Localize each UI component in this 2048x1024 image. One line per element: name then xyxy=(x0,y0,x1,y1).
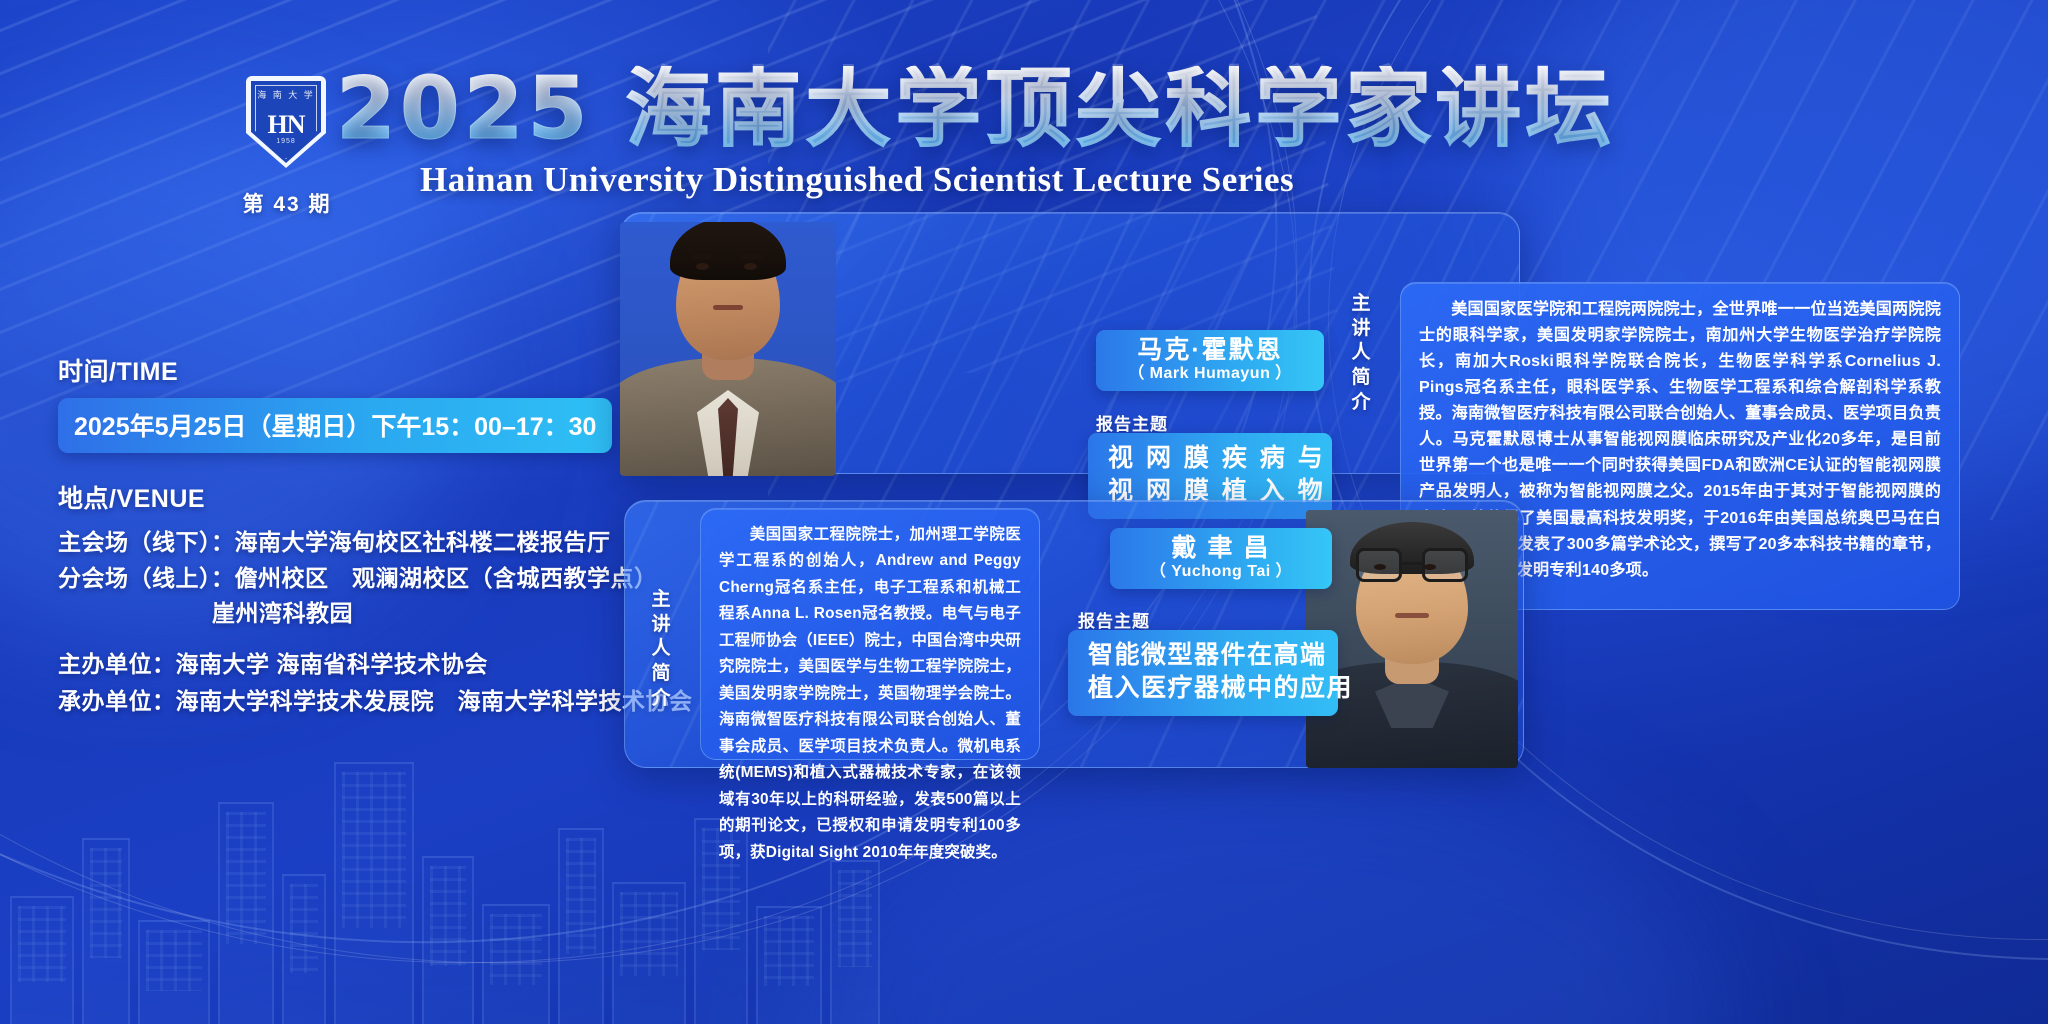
speaker-1-portrait xyxy=(620,222,836,476)
issue-number: 第 43 期 xyxy=(232,188,342,218)
speaker-1-bio-label-char-4: 介 xyxy=(1348,391,1374,416)
speaker-2-name-cn: 戴 聿 昌 xyxy=(1136,534,1306,562)
page-title: 2025 海南大学顶尖科学家讲坛 xyxy=(336,66,1615,152)
crest-initials: HN xyxy=(246,110,326,140)
organizer-line: 主办单位：海南大学 海南省科学技术协会 xyxy=(58,646,638,683)
venue-label: 地点/VENUE xyxy=(58,479,638,515)
speaker-1-topic-line1: 视 网 膜 疾 病 与 xyxy=(1108,442,1312,475)
speaker-2-bio-box: 美国国家工程院院士，加州理工学院医学工程系的创始人，Andrew and Peg… xyxy=(700,508,1040,760)
speaker-2-bio-label-char-2: 人 xyxy=(648,637,674,662)
speaker-2-bio-label-char-3: 简 xyxy=(648,662,674,687)
event-info-panel: 时间/TIME 2025年5月25日（星期日）下午15：00–17：30 地点/… xyxy=(58,352,638,720)
speaker-2-bio-text: 美国国家工程院院士，加州理工学院医学工程系的创始人，Andrew and Peg… xyxy=(719,522,1021,866)
poster-header: 海 南 大 学 HN 1958 第 43 期 2025 海南大学顶尖科学家讲坛 … xyxy=(0,56,2048,226)
speaker-2-bio-label-char-1: 讲 xyxy=(648,613,674,638)
hainan-university-crest-icon: 海 南 大 学 HN 1958 xyxy=(246,76,326,168)
speaker-1-bio-label-char-3: 简 xyxy=(1348,366,1374,391)
speaker-2-bio-label: 主 讲 人 简 介 xyxy=(648,588,674,711)
time-value: 2025年5月25日（星期日）下午15：00–17：30 xyxy=(58,398,612,453)
speaker-1-name-en: （ Mark Humayun ） xyxy=(1122,364,1298,383)
speaker-2-topic-label: 报告主题 xyxy=(1078,607,1150,632)
speaker-2-bio-label-char-4: 介 xyxy=(648,687,674,712)
speaker-2-topic: 智能微型器件在高端 植入医疗器械中的应用 xyxy=(1068,630,1338,716)
speaker-1-bio-label: 主 讲 人 简 介 xyxy=(1348,292,1374,415)
speaker-2-topic-line1: 智能微型器件在高端 xyxy=(1088,639,1318,672)
speaker-1-bio-label-char-0: 主 xyxy=(1348,292,1374,317)
page-subtitle: Hainan University Distinguished Scientis… xyxy=(420,160,1294,200)
speaker-1-bio-label-char-1: 讲 xyxy=(1348,317,1374,342)
speaker-1-name-badge: 马克·霍默恩 （ Mark Humayun ） xyxy=(1096,330,1324,391)
crest-top-text: 海 南 大 学 xyxy=(246,88,326,101)
speaker-2-bio-label-char-0: 主 xyxy=(648,588,674,613)
speaker-2-name-en: （ Yuchong Tai ） xyxy=(1136,562,1306,581)
speaker-1-bio-label-char-2: 人 xyxy=(1348,341,1374,366)
crest-year: 1958 xyxy=(246,138,326,145)
poster-root: 海 南 大 学 HN 1958 第 43 期 2025 海南大学顶尖科学家讲坛 … xyxy=(0,0,2048,1024)
venue-line-branch: 分会场（线上）：儋州校区 观澜湖校区（含城西教学点） xyxy=(58,561,638,597)
venue-line-main: 主会场（线下）：海南大学海甸校区社科楼二楼报告厅 xyxy=(58,525,638,561)
speaker-1-topic-label: 报告主题 xyxy=(1096,410,1168,435)
speaker-2-topic-line2: 植入医疗器械中的应用 xyxy=(1088,672,1318,705)
speaker-1-name-cn: 马克·霍默恩 xyxy=(1122,336,1298,364)
speaker-2-name-badge: 戴 聿 昌 （ Yuchong Tai ） xyxy=(1110,528,1332,589)
venue-line-extra: 崖州湾科教园 xyxy=(58,596,638,632)
co-organizer-line: 承办单位：海南大学科学技术发展院 海南大学科学技术协会 xyxy=(58,683,638,720)
time-label: 时间/TIME xyxy=(58,352,638,388)
